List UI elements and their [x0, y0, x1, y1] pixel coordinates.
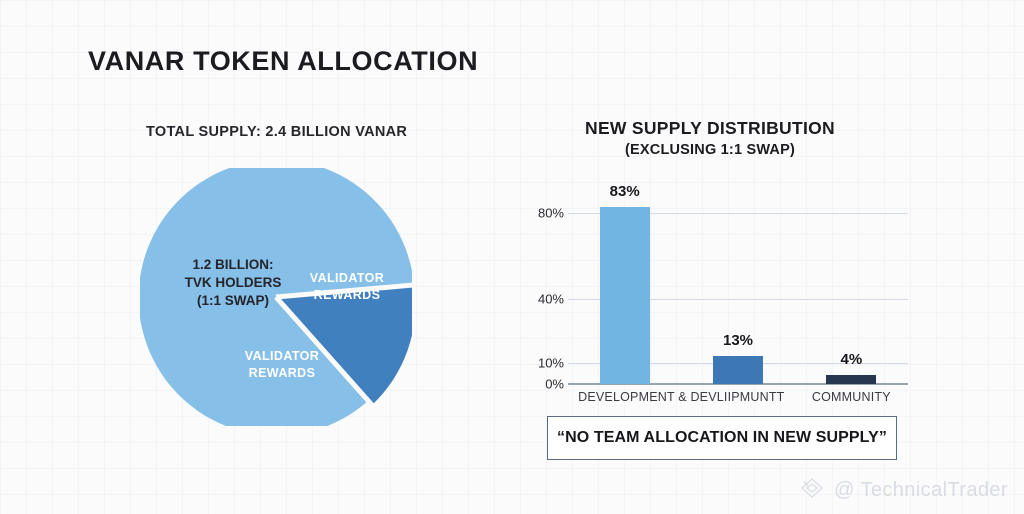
callout-box: “NO TEAM ALLOCATION IN NEW SUPPLY” — [547, 416, 897, 460]
bar-chart: NEW SUPPLY DISTRIBUTION (EXCLUSING 1:1 S… — [500, 112, 920, 397]
pie-chart-caption: TOTAL SUPPLY: 2.4 BILLION VANAR — [146, 124, 407, 140]
bar-value-label-1: 83% — [585, 183, 665, 200]
y-axis-tick-label: 0% — [504, 377, 564, 392]
y-axis-tick-label: 10% — [504, 355, 564, 370]
slide-content: VANAR TOKEN ALLOCATION TOTAL SUPPLY: 2.4… — [0, 0, 1024, 514]
x-axis-tick-label-development: DEVELOPMENT & DEVLIIPMUNTT — [560, 390, 803, 404]
callout-text: “NO TEAM ALLOCATION IN NEW SUPPLY” — [557, 429, 887, 447]
watermark-handle: @ TechnicalTrader — [834, 479, 1008, 502]
y-axis-tick-label: 40% — [504, 291, 564, 306]
bar-chart-plot-area: 80%40%10%0%83%13%4%DEVELOPMENT & DEVLIIP… — [568, 192, 908, 384]
x-axis-tick-label-community: COMMUNITY — [795, 390, 908, 404]
bar-2 — [713, 356, 763, 384]
bar-3 — [826, 375, 876, 384]
page-title: VANAR TOKEN ALLOCATION — [88, 46, 478, 77]
pie-chart-svg — [140, 168, 412, 426]
y-axis-tick-label: 80% — [504, 206, 564, 221]
slide-canvas: VANAR TOKEN ALLOCATION TOTAL SUPPLY: 2.4… — [0, 0, 1024, 514]
watermark: @ TechnicalTrader — [799, 477, 1008, 504]
bar-chart-subtitle: (EXCLUSING 1:1 SWAP) — [500, 142, 920, 158]
bar-value-label-2: 13% — [698, 332, 778, 349]
bar-1 — [600, 207, 650, 384]
pie-chart: 1.2 BILLION: TVK HOLDERS (1:1 SWAP) VALI… — [140, 168, 412, 426]
bar-value-label-3: 4% — [811, 351, 891, 368]
diamond-logo-icon — [799, 477, 825, 504]
bar-chart-title: NEW SUPPLY DISTRIBUTION — [500, 118, 920, 139]
